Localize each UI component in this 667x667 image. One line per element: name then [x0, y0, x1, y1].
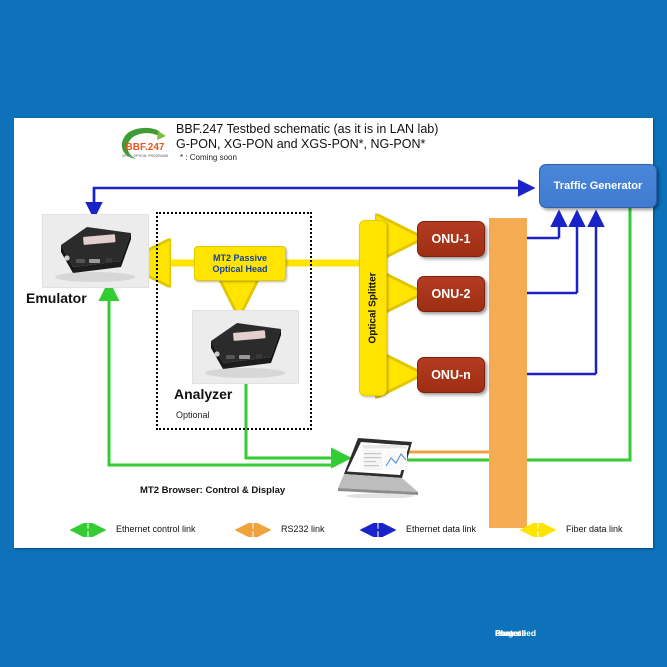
optical-splitter-label: Optical Splitter [368, 272, 379, 343]
power-plug-label: Remote controlled Power Plug [492, 423, 528, 453]
legend: Ethernet control link RS232 link [64, 520, 644, 542]
emulator-panel [42, 214, 149, 288]
analyzer-panel [192, 310, 299, 384]
onu-1[interactable]: ONU-1 [417, 221, 485, 257]
legend-label-rs232: RS232 link [281, 524, 325, 534]
legend-label-ethernet-data: Ethernet data link [406, 524, 476, 534]
onu-1-label: ONU-1 [432, 232, 471, 246]
remote-controlled-power-plug[interactable]: Remote controlled Power Plug [489, 218, 527, 528]
laptop-image [336, 436, 424, 498]
legend-label-fiber-data: Fiber data link [566, 524, 623, 534]
onu-2-label: ONU-2 [432, 287, 471, 301]
onu-n[interactable]: ONU-n [417, 357, 485, 393]
analyzer-device-image [193, 311, 296, 381]
onu-2[interactable]: ONU-2 [417, 276, 485, 312]
legend-arrow-ethernet-control [64, 523, 112, 537]
optional-label: Optional [176, 410, 210, 420]
emulator-label: Emulator [26, 290, 87, 306]
mt2-head-label: MT2 Passive Optical Head [212, 253, 267, 275]
slide-root: BBF.247 OPEN. OPTION. PROGRAMS BBF.247 T… [0, 0, 667, 667]
legend-label-ethernet-control: Ethernet control link [116, 524, 196, 534]
legend-arrow-fiber-data [514, 523, 562, 537]
analyzer-label: Analyzer [174, 386, 232, 402]
traffic-generator-label: Traffic Generator [554, 180, 643, 192]
laptop-caption: MT2 Browser: Control & Display [140, 485, 285, 496]
traffic-generator[interactable]: Traffic Generator [539, 164, 657, 208]
legend-arrow-ethernet-data [354, 523, 402, 537]
legend-arrow-rs232 [229, 523, 277, 537]
onu-n-label: ONU-n [431, 368, 471, 382]
diagram-canvas: BBF.247 OPEN. OPTION. PROGRAMS BBF.247 T… [14, 118, 653, 548]
mt2-browser-laptop[interactable] [336, 436, 424, 498]
mt2-passive-optical-head[interactable]: MT2 Passive Optical Head [194, 246, 286, 281]
emulator-device-image [43, 215, 146, 285]
optical-splitter[interactable]: Optical Splitter [359, 220, 387, 396]
